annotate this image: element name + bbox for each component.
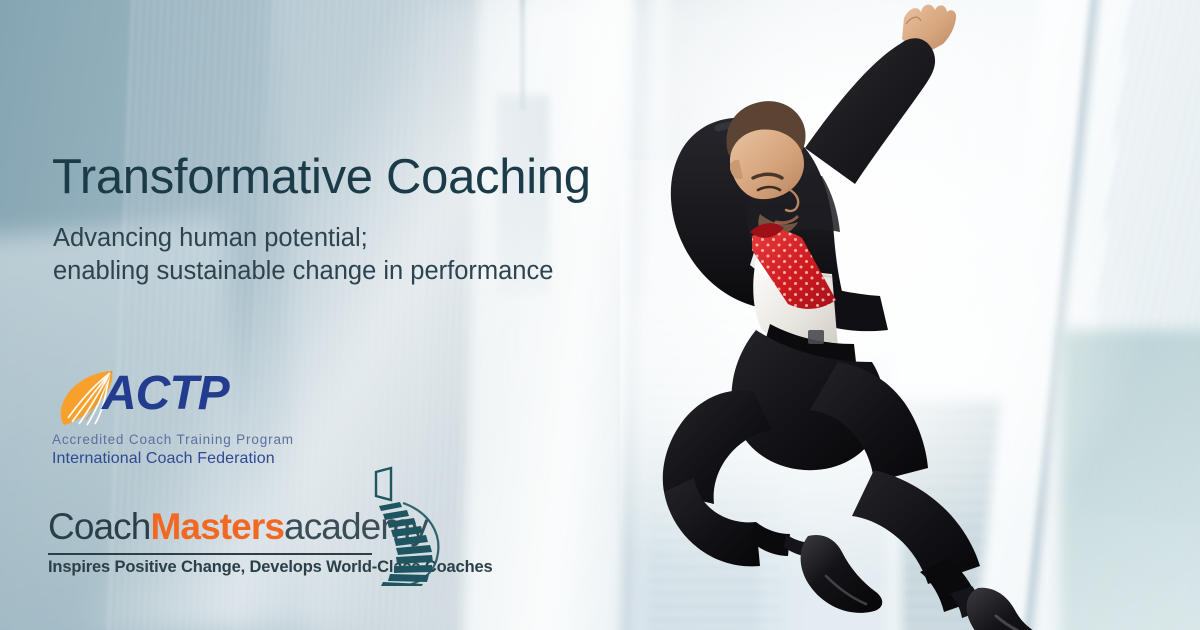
actp-wordmark: ACTP (102, 366, 229, 421)
subtitle-line-1: Advancing human potential; (53, 222, 553, 255)
coach-masters-academy-logo: CoachMastersacademy Inspires Positive Ch… (48, 508, 448, 588)
actp-subtitle-line-1: Accredited Coach Training Program (52, 432, 294, 447)
page-subtitle: Advancing human potential; enabling sust… (53, 222, 553, 287)
actp-subtitle-line-2: International Coach Federation (52, 450, 275, 468)
cma-divider-rule (48, 553, 372, 555)
banner-image: Transformative Coaching Advancing human … (0, 0, 1200, 630)
raised-arm (805, 5, 956, 184)
jumping-businessman-photo (600, 0, 1200, 630)
actp-wordmark-row: ACTP (48, 370, 308, 428)
subtitle-line-2: enabling sustainable change in performan… (53, 255, 553, 288)
cma-word-coach: Coach (48, 506, 150, 547)
page-title: Transformative Coaching (52, 152, 591, 203)
cma-word-masters: Masters (150, 506, 284, 547)
actp-logo: ACTP Accredited Coach Training Program I… (48, 370, 308, 475)
spiral-staircase-icon (353, 466, 463, 586)
